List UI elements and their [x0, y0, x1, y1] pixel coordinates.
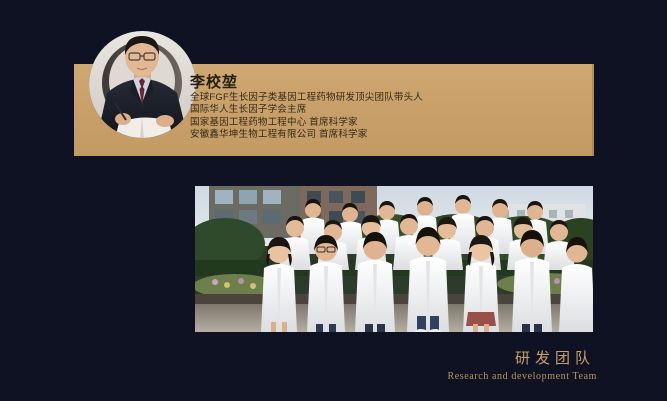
profile-credential-3: 国家基因工程药物工程中心 首席科学家: [190, 117, 590, 129]
slide-canvas: 李校堃 全球FGF生长因子类基因工程药物研发顶尖团队带头人 国际华人生长因子学会…: [0, 0, 667, 401]
portrait-avatar: [89, 31, 196, 138]
slide-caption: 研发团队 Research and development Team: [447, 349, 597, 385]
team-photo: [195, 186, 593, 332]
portrait-illustration: [89, 31, 196, 138]
caption-english: Research and development Team: [447, 369, 597, 385]
profile-credential-4: 安徽鑫华坤生物工程有限公司 首席科学家: [190, 129, 590, 141]
profile-credential-1: 全球FGF生长因子类基因工程药物研发顶尖团队带头人: [190, 92, 590, 104]
caption-chinese: 研发团队: [447, 349, 597, 369]
profile-credential-2: 国际华人生长因子学会主席: [190, 104, 590, 116]
profile-text-block: 李校堃 全球FGF生长因子类基因工程药物研发顶尖团队带头人 国际华人生长因子学会…: [190, 73, 590, 142]
profile-name: 李校堃: [190, 73, 590, 92]
team-photo-illustration: [195, 186, 593, 332]
